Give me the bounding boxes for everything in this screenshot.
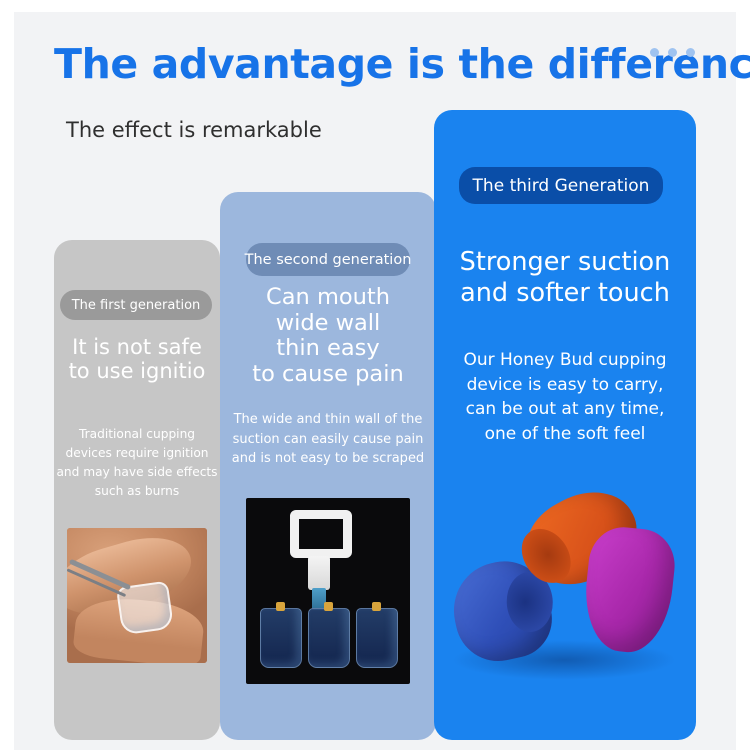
jar-valve-shape: [324, 602, 333, 611]
card-second-title-line1: Can mouth: [222, 285, 434, 311]
page-title: The advantage is the difference: [54, 40, 750, 88]
top-white-margin: [0, 0, 750, 12]
badge-second-generation: The second generation: [246, 243, 410, 276]
card-third-title: Stronger suction and softer touch: [436, 247, 694, 308]
cupping-jar-shape: [356, 608, 398, 668]
badge-third-generation: The third Generation: [459, 167, 663, 204]
card-first-title-line1: It is not safe: [46, 336, 228, 360]
silicone-cup-purple: [580, 524, 678, 656]
badge-first-generation: The first generation: [60, 290, 212, 320]
card-third-body-line1: Our Honey Bud cupping: [438, 348, 692, 373]
card-third-title-line1: Stronger suction: [436, 247, 694, 278]
card-second-title-line4: to cause pain: [222, 362, 434, 388]
card-third-image: [434, 470, 696, 730]
card-second-title: Can mouth wide wall thin easy to cause p…: [222, 285, 434, 388]
card-first-image: [67, 528, 207, 663]
jar-valve-shape: [372, 602, 381, 611]
dot-icon: [650, 48, 659, 57]
cupping-jar-shape: [308, 608, 350, 668]
card-second-title-line2: wide wall: [222, 311, 434, 337]
dot-icon: [668, 48, 677, 57]
poster-page: The advantage is the difference The effe…: [0, 0, 750, 750]
card-first-title: It is not safe to use ignitio: [46, 336, 228, 384]
card-second-body: The wide and thin wall of the suction ca…: [224, 410, 432, 469]
page-subtitle: The effect is remarkable: [66, 118, 322, 142]
cupping-jar-shape: [260, 608, 302, 668]
card-third-body-line4: one of the soft feel: [438, 422, 692, 447]
jar-valve-shape: [276, 602, 285, 611]
left-white-margin: [0, 0, 14, 750]
glass-cup-shape: [116, 581, 174, 636]
card-second-title-line3: thin easy: [222, 336, 434, 362]
card-third-title-line2: and softer touch: [436, 278, 694, 309]
right-white-margin: [736, 0, 750, 750]
pump-handle-shape: [290, 510, 352, 558]
card-first-body: Traditional cupping devices require igni…: [56, 425, 218, 501]
card-second-image: [246, 498, 410, 684]
decorative-dots: [650, 48, 695, 57]
card-third-body-line3: can be out at any time,: [438, 397, 692, 422]
card-first-title-line2: to use ignitio: [46, 360, 228, 384]
pump-body-shape: [308, 556, 330, 590]
dot-icon: [686, 48, 695, 57]
card-third-body-line2: device is easy to carry,: [438, 373, 692, 398]
card-third-body: Our Honey Bud cupping device is easy to …: [438, 348, 692, 447]
